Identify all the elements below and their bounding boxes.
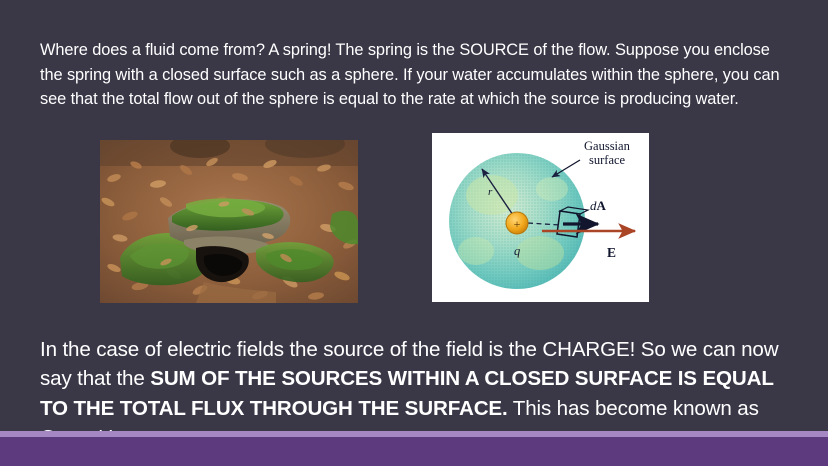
- label-area-element: dA: [590, 198, 607, 213]
- label-gaussian-surface-line1: Gaussian: [584, 139, 631, 153]
- gaussian-surface-figure: r Gaussian surface + q dA E: [432, 133, 649, 302]
- intro-paragraph: Where does a fluid come from? A spring! …: [40, 38, 792, 112]
- spring-photo-image: [100, 140, 358, 303]
- footer-bar: [0, 437, 828, 466]
- label-gaussian-surface-line2: surface: [589, 153, 626, 167]
- label-radius-r: r: [488, 186, 493, 198]
- spring-photograph: [100, 140, 358, 303]
- label-charge-q: q: [514, 244, 520, 258]
- label-field-E: E: [607, 245, 616, 260]
- gaussian-surface-diagram: r Gaussian surface + q dA E: [432, 133, 649, 302]
- label-charge-sign: +: [514, 217, 521, 231]
- slide-canvas: Where does a fluid come from? A spring! …: [0, 0, 828, 466]
